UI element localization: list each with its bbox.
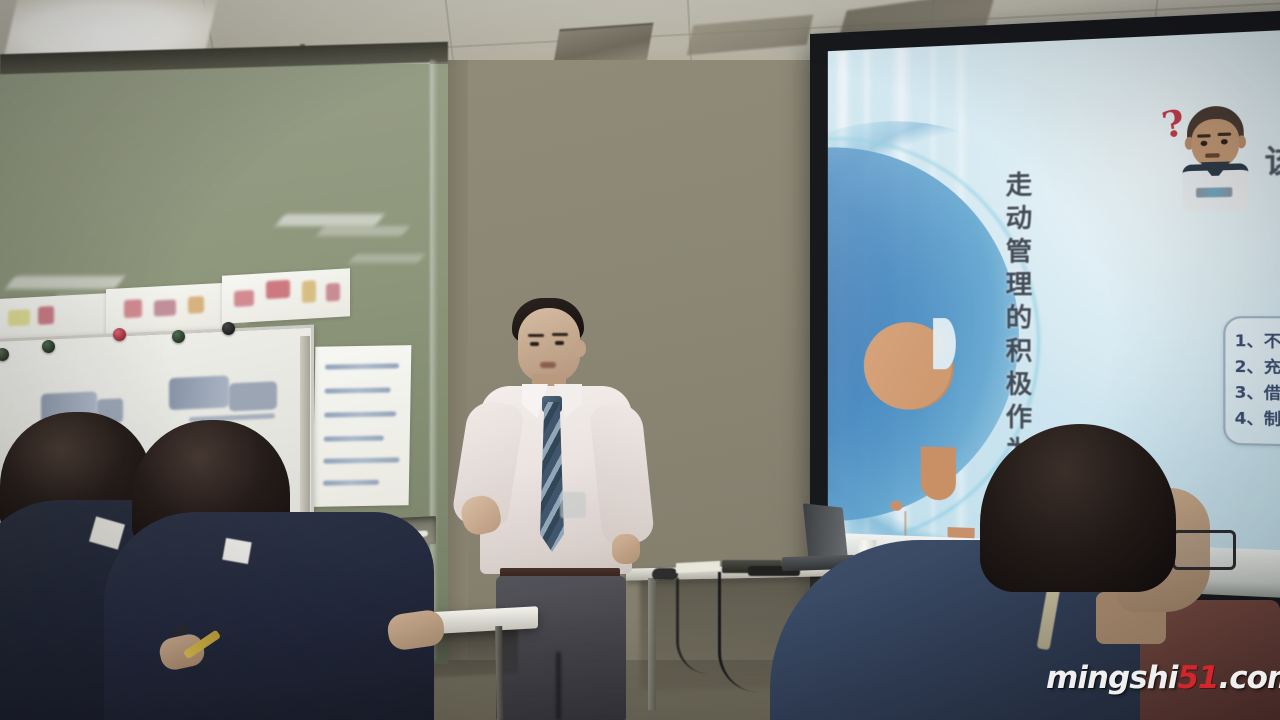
- slide-callout-box: 1、不断寻 2、充分应 3、借用组 4、制造热: [1223, 316, 1280, 449]
- list-item-number: 1、: [1235, 331, 1264, 351]
- classroom-photo-scene: 走动管理的积极作为 ? 该值 1、不断寻: [0, 0, 1280, 720]
- watermark-number: 51: [1177, 660, 1218, 696]
- cartoon-brow-left: [1197, 134, 1211, 138]
- whiteboard-magnet[interactable]: [172, 330, 185, 343]
- presenter-brow-left: [528, 334, 544, 337]
- whiteboard-magnet[interactable]: [222, 322, 235, 335]
- presenter-badge: [560, 492, 586, 518]
- attendee-left-second-collar: [222, 538, 251, 564]
- flipchart-sheet-handwriting: [313, 345, 412, 507]
- slide-lead-text: 该值: [1264, 135, 1280, 182]
- cartoon-shirt-logo: [1196, 187, 1232, 197]
- list-item-number: 4、: [1235, 409, 1264, 429]
- watermark-suffix: .com: [1218, 660, 1280, 696]
- orange-circle-notch: [933, 318, 956, 369]
- cartoon-brow-right: [1218, 132, 1232, 136]
- cartoon-character: ?: [1178, 103, 1253, 206]
- attendee-left-second-body: [104, 512, 434, 720]
- site-watermark: mingshi51.com: [1046, 660, 1280, 696]
- orange-dot: [890, 501, 902, 512]
- list-item-text: 充分应: [1264, 357, 1280, 377]
- slide-vertical-title: 走动管理的积极作为: [998, 171, 1036, 470]
- list-item: 2、充分应: [1235, 354, 1280, 382]
- flipchart-sheet-top-right: [222, 268, 350, 324]
- presenter-ear: [574, 340, 586, 357]
- list-item-text: 制造热: [1264, 409, 1280, 429]
- presenter-head: [518, 308, 580, 382]
- flipchart-sheet-top-mid: [106, 283, 224, 335]
- list-item-text: 不断寻: [1264, 331, 1280, 351]
- power-cable: [676, 578, 709, 674]
- list-item-number: 2、: [1235, 357, 1264, 377]
- cartoon-face: [1192, 118, 1240, 169]
- presenter-eye-right: [555, 341, 564, 345]
- watermark-prefix: mingshi: [1046, 660, 1177, 696]
- presenter-brow-right: [552, 333, 568, 336]
- presenter-tie: [540, 402, 564, 552]
- presenter-leg-split: [556, 652, 561, 720]
- slide-list: 1、不断寻 2、充分应 3、借用组 4、制造热: [1225, 318, 1280, 435]
- power-cable: [718, 572, 761, 692]
- orange-half-circle: [921, 447, 956, 501]
- eyeglasses-lens: [1172, 530, 1236, 570]
- list-item-text: 借用组: [1264, 383, 1280, 403]
- presenter-mouth: [540, 362, 556, 368]
- list-item: 4、制造热: [1235, 405, 1280, 434]
- presenter-hand-in-pocket: [612, 534, 640, 564]
- whiteboard-magnet[interactable]: [42, 340, 55, 353]
- whiteboard-magnet[interactable]: [113, 328, 126, 341]
- list-item: 1、不断寻: [1235, 328, 1280, 355]
- cartoon-mouth: [1205, 153, 1220, 158]
- presenter-eye-left: [530, 342, 539, 346]
- list-item: 3、借用组: [1235, 380, 1280, 409]
- list-item-number: 3、: [1235, 383, 1264, 403]
